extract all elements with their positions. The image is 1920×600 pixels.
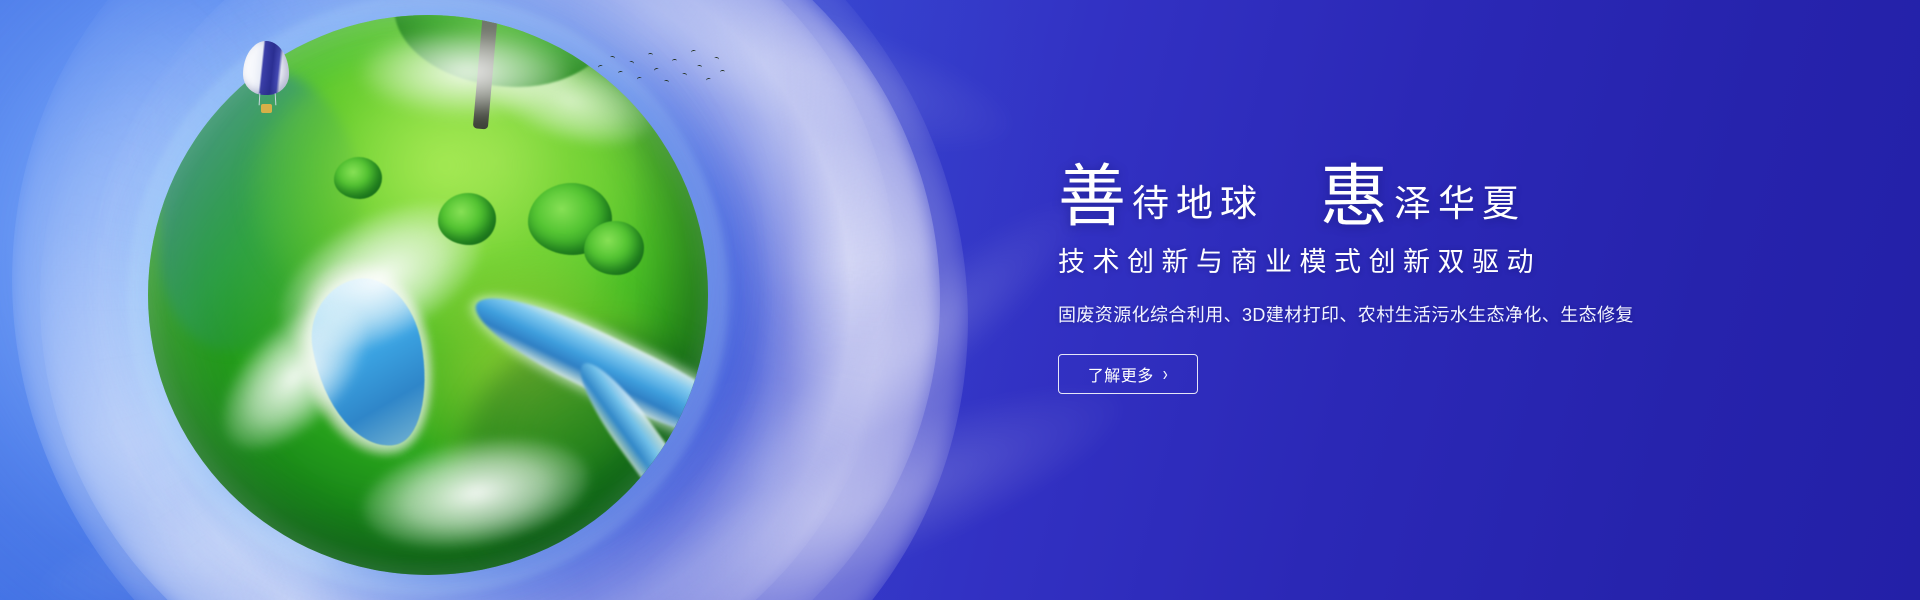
headline-rest-2: 泽华夏 [1394, 185, 1526, 222]
hero-subtitle: 技术创新与商业模式创新双驱动 [1058, 240, 1698, 279]
mist-cloud [362, 29, 572, 115]
hero-banner: 善 待地球 惠 泽华夏 技术创新与商业模式创新双驱动 固废资源化综合利用、3D建… [0, 0, 1920, 600]
headline-char-2: 惠 [1320, 164, 1388, 232]
learn-more-button[interactable]: 了解更多 › [1058, 354, 1198, 394]
page-title: 善 待地球 惠 泽华夏 [1058, 140, 1698, 226]
headline-rest-1: 待地球 [1132, 185, 1264, 222]
headline-char-1: 善 [1058, 164, 1126, 232]
balloon-envelope [243, 41, 289, 95]
chevron-right-icon: › [1163, 364, 1169, 384]
learn-more-label: 了解更多 [1088, 362, 1154, 386]
hot-air-balloon-icon [243, 41, 289, 115]
bird-flock-icon [596, 47, 726, 89]
green-planet-image [148, 15, 708, 575]
hero-copy: 善 待地球 惠 泽华夏 技术创新与商业模式创新双驱动 固废资源化综合利用、3D建… [1058, 140, 1698, 394]
hero-description: 固废资源化综合利用、3D建材打印、农村生活污水生态净化、生态修复 [1058, 301, 1698, 327]
balloon-basket [261, 104, 272, 113]
